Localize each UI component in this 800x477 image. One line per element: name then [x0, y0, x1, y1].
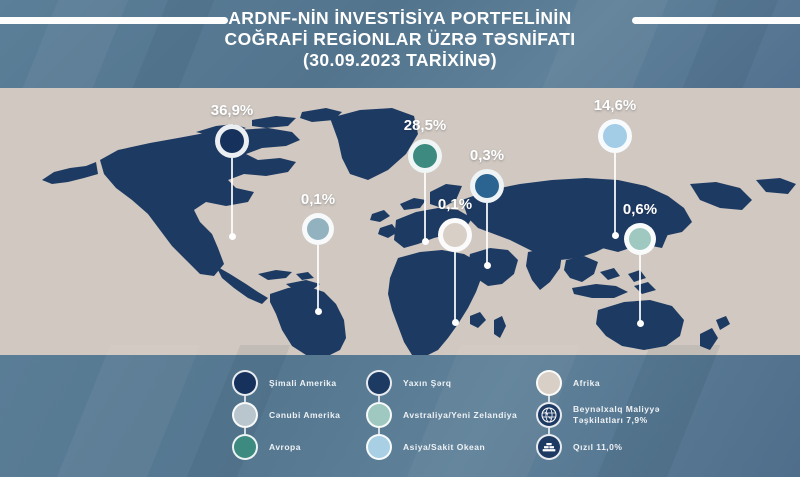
- legend-item-avropa[interactable]: Avropa: [232, 434, 301, 460]
- legend-item-label: Şimali Amerika: [269, 378, 337, 389]
- marker-tip-dot: [315, 308, 322, 315]
- world-map: [0, 88, 800, 355]
- marker-value-label: 0,6%: [623, 201, 657, 218]
- legend-item-label: Cənubi Amerika: [269, 410, 340, 421]
- marker-stem: [639, 255, 641, 323]
- marker-tip-dot: [484, 262, 491, 269]
- map-marker-australia-nz[interactable]: 0,6%: [624, 223, 656, 255]
- legend-item-cenubi-amerika[interactable]: Cənubi Amerika: [232, 402, 340, 428]
- title-line-3: (30.09.2023 TARİXİNƏ): [0, 50, 800, 71]
- marker-tip-dot: [422, 238, 429, 245]
- marker-value-label: 14,6%: [594, 97, 637, 114]
- marker-value-label: 0,3%: [470, 147, 504, 164]
- marker-dot: [438, 218, 472, 252]
- marker-stem: [614, 153, 616, 235]
- title-line-2: COĞRAFİ REGİONLAR ÜZRƏ TƏSNİFATI: [0, 29, 800, 50]
- legend-item-label: Qızıl 11,0%: [573, 442, 622, 453]
- marker-stem: [231, 158, 233, 236]
- dot-icon: [232, 434, 258, 460]
- map-marker-middle-east[interactable]: 0,3%: [470, 169, 504, 203]
- map-marker-south-america[interactable]: 0,1%: [302, 213, 334, 245]
- marker-tip-dot: [452, 319, 459, 326]
- infographic-poster: ARDNF-NİN İNVESTİSİYA PORTFELİNİN COĞRAF…: [0, 0, 800, 477]
- marker-tip-dot: [229, 233, 236, 240]
- legend-item-label: Afrika: [573, 378, 600, 389]
- marker-dot: [470, 169, 504, 203]
- dot-icon: [366, 434, 392, 460]
- legend-item-bmt[interactable]: Beynəlxalq MaliyyəTəşkilatları 7,9%: [536, 402, 660, 428]
- marker-dot: [408, 139, 442, 173]
- legend-item-yaxin-serq[interactable]: Yaxın Şərq: [366, 370, 451, 396]
- marker-stem: [454, 252, 456, 322]
- legend-item-qizil[interactable]: Qızıl 11,0%: [536, 434, 622, 460]
- marker-dot: [302, 213, 334, 245]
- map-marker-north-america[interactable]: 36,9%: [215, 124, 249, 158]
- marker-dot: [598, 119, 632, 153]
- legend-item-simali-amerika[interactable]: Şimali Amerika: [232, 370, 337, 396]
- legend-item-afrika[interactable]: Afrika: [536, 370, 600, 396]
- legend-item-label-line2: Təşkilatları 7,9%: [573, 415, 660, 426]
- dot-icon: [366, 370, 392, 396]
- marker-stem: [317, 245, 319, 311]
- map-legend: Şimali AmerikaCənubi AmerikaAvropaYaxın …: [0, 358, 800, 477]
- marker-tip-dot: [637, 320, 644, 327]
- map-marker-asia-pacific[interactable]: 14,6%: [598, 119, 632, 153]
- marker-dot: [215, 124, 249, 158]
- legend-item-label: Avropa: [269, 442, 301, 453]
- poster-header: ARDNF-NİN İNVESTİSİYA PORTFELİNİN COĞRAF…: [0, 0, 800, 88]
- marker-stem: [486, 203, 488, 265]
- legend-item-label: Beynəlxalq MaliyyəTəşkilatları 7,9%: [573, 404, 660, 426]
- legend-item-label: Asiya/Sakit Okean: [403, 442, 485, 453]
- dot-icon: [536, 370, 562, 396]
- dot-icon: [232, 402, 258, 428]
- legend-item-avstraliya-nz[interactable]: Avstraliya/Yeni Zelandiya: [366, 402, 517, 428]
- title-line-1: ARDNF-NİN İNVESTİSİYA PORTFELİNİN: [0, 8, 800, 29]
- legend-item-label: Avstraliya/Yeni Zelandiya: [403, 410, 517, 421]
- map-marker-africa[interactable]: 0,1%: [438, 218, 472, 252]
- page-title: ARDNF-NİN İNVESTİSİYA PORTFELİNİN COĞRAF…: [0, 8, 800, 71]
- marker-value-label: 36,9%: [211, 102, 254, 119]
- legend-item-label: Yaxın Şərq: [403, 378, 451, 389]
- dot-icon: [232, 370, 258, 396]
- marker-tip-dot: [612, 232, 619, 239]
- marker-value-label: 0,1%: [438, 196, 472, 213]
- dot-icon: [366, 402, 392, 428]
- marker-stem: [424, 173, 426, 241]
- marker-value-label: 0,1%: [301, 191, 335, 208]
- globe-icon: [536, 402, 562, 428]
- marker-value-label: 28,5%: [404, 117, 447, 134]
- marker-dot: [624, 223, 656, 255]
- legend-item-asiya-sakit[interactable]: Asiya/Sakit Okean: [366, 434, 485, 460]
- gold-bars-icon: [536, 434, 562, 460]
- map-marker-europe[interactable]: 28,5%: [408, 139, 442, 173]
